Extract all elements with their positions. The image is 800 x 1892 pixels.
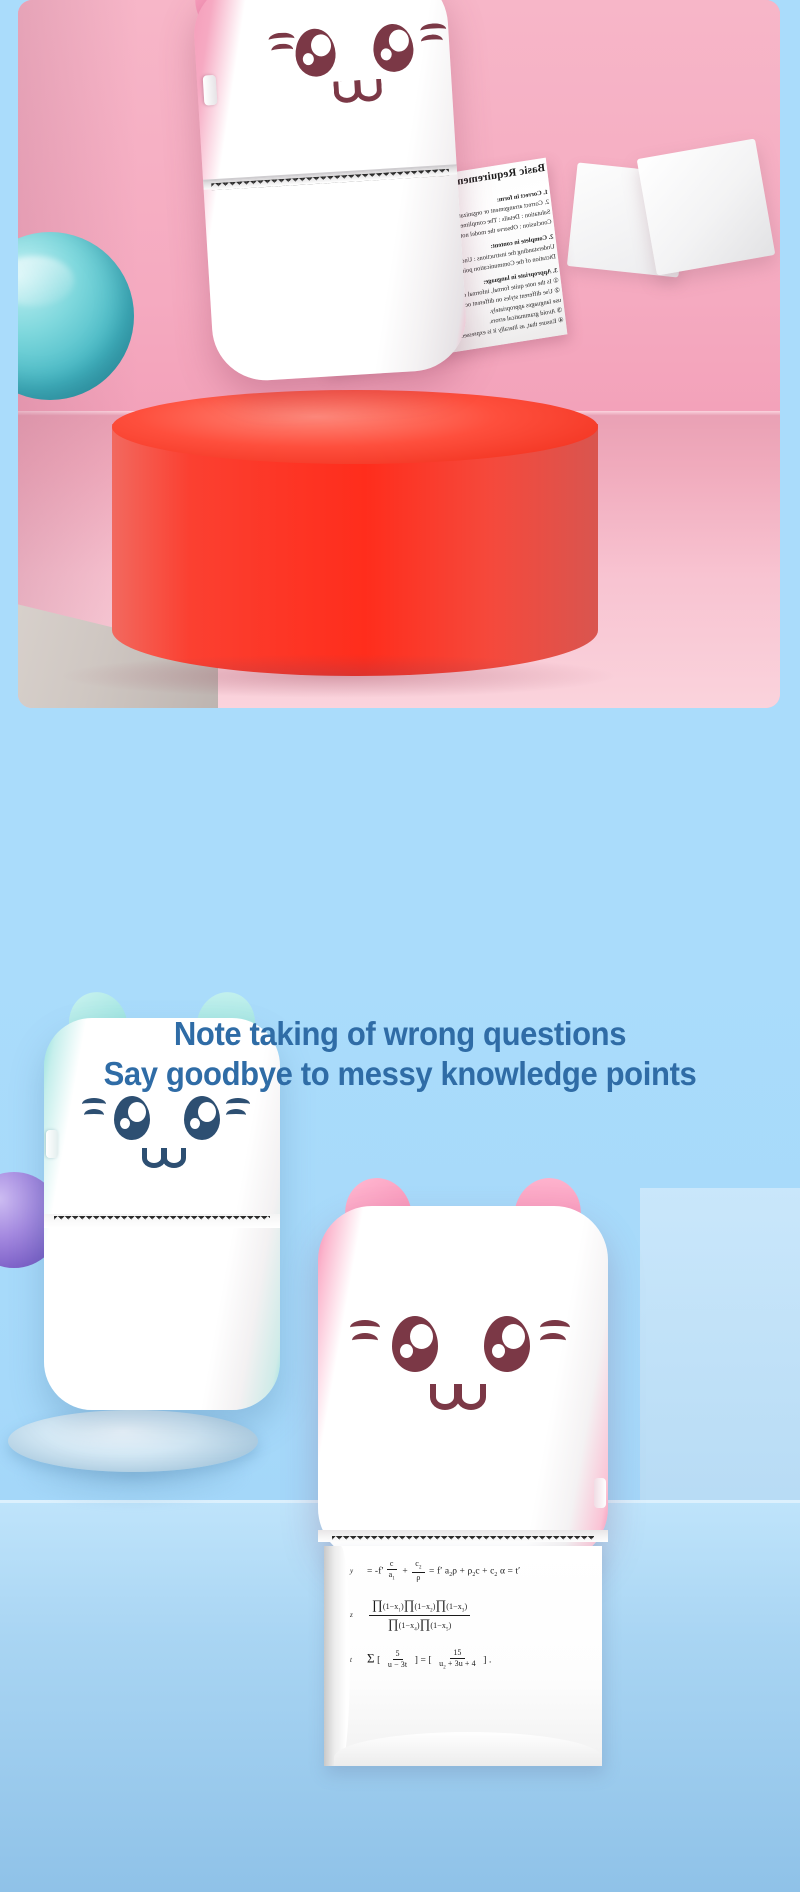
eyebrow-icon	[226, 1109, 246, 1121]
printed-receipt-math: y = -f′ca1 + c2ρ = f′ a2ρ + ρ2c + c2 α =…	[324, 1546, 602, 1766]
eye-icon	[114, 1096, 150, 1140]
eye-icon	[184, 1096, 220, 1140]
formula-tag: t	[350, 1656, 360, 1664]
formula-expression: Σ [ 5u − 3t ] = [ 15u2 + 3u + 4 ] .	[367, 1649, 491, 1671]
tear-bar-icon	[332, 1536, 594, 1543]
formula-expression: = -f′ca1 + c2ρ = f′ a2ρ + ρ2c + c2 α = t…	[367, 1560, 520, 1582]
printer-pink: y = -f′ca1 + c2ρ = f′ a2ρ + ρ2c + c2 α =…	[318, 1178, 608, 1678]
formula-row: t Σ [ 5u − 3t ] = [ 15u2 + 3u + 4 ] .	[350, 1649, 594, 1671]
pedestal-shadow	[58, 654, 618, 698]
formula-expression: ∏(1−x1)∏(1−x2)∏(1−x3) ∏(1−x4)∏(1−x5)	[367, 1598, 472, 1633]
product-listing-page: Basic Requirements 1. Correct in form: 2…	[0, 0, 800, 1892]
kawaii-face-icon	[268, 15, 449, 112]
formula-row: z ∏(1−x1)∏(1−x2)∏(1−x3) ∏(1−x4)∏(1−x5)	[350, 1598, 594, 1633]
kawaii-face-icon	[350, 1312, 570, 1418]
printer-hero	[186, 0, 475, 426]
mouth-icon	[430, 1384, 490, 1410]
headline-line-2: Say goodbye to messy knowledge points	[24, 1054, 776, 1094]
receipt-bottom-curl	[334, 1732, 602, 1766]
eyebrow-icon	[84, 1109, 104, 1121]
eyebrow-icon	[540, 1333, 566, 1348]
eye-icon	[484, 1316, 530, 1372]
mouth-icon	[142, 1148, 190, 1168]
power-button[interactable]	[46, 1130, 58, 1158]
kawaii-face-icon	[80, 1092, 250, 1176]
formula-tag: y	[350, 1567, 360, 1575]
eye-icon	[392, 1316, 438, 1372]
printer-body	[318, 1206, 608, 1562]
hero-product-photo: Basic Requirements 1. Correct in form: 2…	[18, 0, 780, 708]
eyebrow-icon	[271, 43, 294, 57]
marketing-headline: Note taking of wrong questions Say goodb…	[24, 1014, 776, 1095]
receipt-curl	[324, 1546, 350, 1766]
eyebrow-icon	[421, 34, 444, 48]
eyebrow-icon	[352, 1333, 378, 1348]
power-button[interactable]	[203, 75, 218, 106]
red-pedestal	[112, 390, 598, 680]
headline-line-1: Note taking of wrong questions	[24, 1014, 776, 1054]
math-formula-block: y = -f′ca1 + c2ρ = f′ a2ρ + ρ2c + c2 α =…	[350, 1560, 594, 1687]
formula-row: y = -f′ca1 + c2ρ = f′ a2ρ + ρ2c + c2 α =…	[350, 1560, 594, 1582]
printer-body	[191, 0, 469, 383]
power-button[interactable]	[594, 1478, 606, 1508]
sphere-highlight	[18, 256, 74, 306]
eye-icon	[294, 28, 337, 78]
tear-bar-icon	[54, 1216, 270, 1223]
eye-icon	[372, 23, 415, 73]
white-box-prop-front	[637, 138, 776, 275]
mouth-icon	[333, 78, 386, 103]
formula-tag: z	[350, 1611, 360, 1619]
